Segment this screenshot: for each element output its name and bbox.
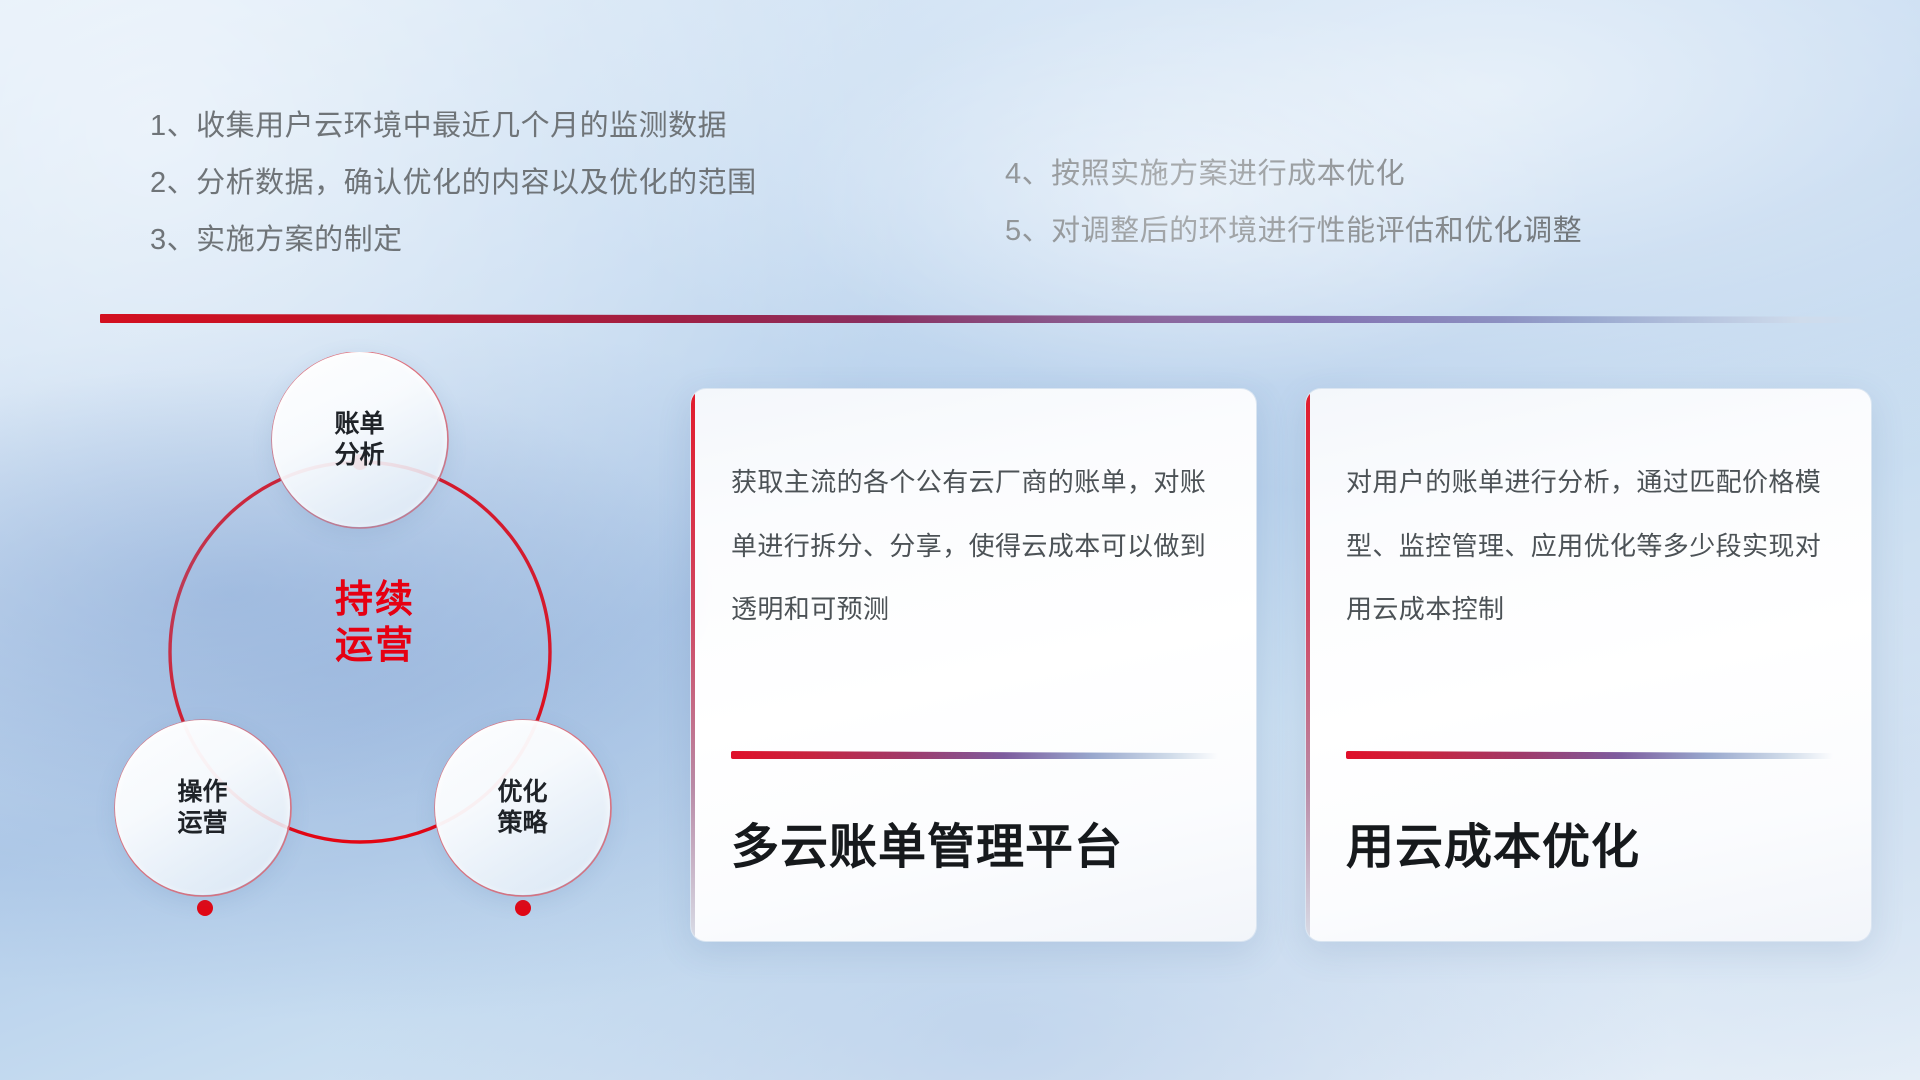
center-label-line2: 运营 (95, 623, 655, 669)
card-description: 获取主流的各个公有云厂商的账单，对账单进行拆分、分享，使得云成本可以做到透明和可… (731, 451, 1222, 642)
card-title: 用云成本优化 (1346, 807, 1841, 877)
card-cloud-cost-optimization[interactable]: 对用户的账单进行分析，通过匹配价格模型、监控管理、应用优化等多少段实现对用云成本… (1305, 388, 1872, 942)
diagram-bubble-billing-analysis[interactable]: 账单 分析 (272, 352, 447, 527)
process-steps: 1、收集用户云环境中最近几个月的监测数据 2、分析数据，确认优化的内容以及优化的… (0, 112, 1920, 282)
card-multi-cloud-billing-platform[interactable]: 获取主流的各个公有云厂商的账单，对账单进行拆分、分享，使得云成本可以做到透明和可… (690, 388, 1257, 942)
diagram-bubble-optimization-strategy[interactable]: 优化 策略 (435, 720, 610, 895)
process-step-3: 3、实施方案的制定 (150, 226, 757, 255)
process-steps-column-right: 4、按照实施方案进行成本优化 5、对调整后的环境进行性能评估和优化调整 (1005, 160, 1582, 274)
card-accent-rule (731, 751, 1218, 759)
bubble-label-line2: 策略 (497, 808, 547, 839)
card-accent-rule (1346, 751, 1833, 759)
ring-node-bottom-left (197, 900, 213, 916)
bubble-label-line1: 账单 (334, 409, 384, 440)
section-divider-bar (100, 314, 1872, 323)
diagram-bubble-operations[interactable]: 操作 运营 (115, 720, 290, 895)
bubble-label-line1: 操作 (177, 777, 227, 808)
process-step-1: 1、收集用户云环境中最近几个月的监测数据 (150, 112, 757, 141)
bubble-label-line2: 分析 (334, 440, 384, 471)
process-step-2: 2、分析数据，确认优化的内容以及优化的范围 (150, 169, 757, 198)
center-label-line1: 持续 (95, 577, 655, 623)
card-description: 对用户的账单进行分析，通过匹配价格模型、监控管理、应用优化等多少段实现对用云成本… (1346, 451, 1837, 642)
card-title: 多云账单管理平台 (731, 807, 1226, 877)
process-step-4: 4、按照实施方案进行成本优化 (1005, 160, 1582, 189)
slide-canvas: 1、收集用户云环境中最近几个月的监测数据 2、分析数据，确认优化的内容以及优化的… (0, 0, 1920, 1080)
continuous-operations-diagram: 账单 分析 操作 运营 优化 策略 持续 运营 (95, 352, 655, 942)
diagram-center-label: 持续 运营 (95, 577, 655, 670)
process-step-5: 5、对调整后的环境进行性能评估和优化调整 (1005, 217, 1582, 246)
ring-node-bottom-right (515, 900, 531, 916)
bubble-label-line1: 优化 (497, 777, 547, 808)
section-divider (100, 314, 1872, 326)
process-steps-column-left: 1、收集用户云环境中最近几个月的监测数据 2、分析数据，确认优化的内容以及优化的… (150, 112, 757, 283)
bubble-label-line2: 运营 (177, 808, 227, 839)
